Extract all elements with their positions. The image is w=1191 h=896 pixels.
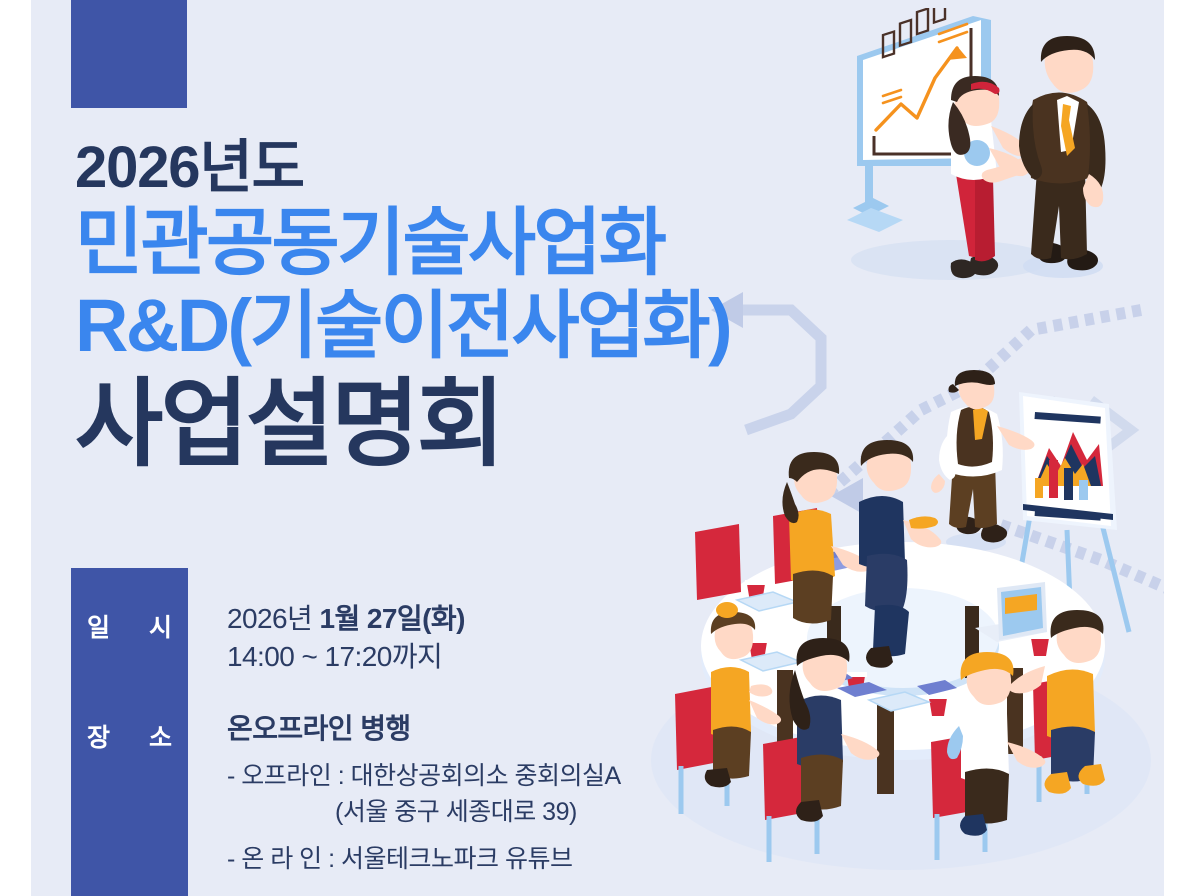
place-offline-address: (서울 중구 세종대로 39) [227,794,697,830]
event-date-line: 2026년 1월 27일(화) [227,600,697,638]
title-program-line-2: R&D(기술이전사업화) [75,285,715,368]
info-label-date-first: 일 [87,608,110,644]
title-event-type: 사업설명회 [75,370,715,479]
info-label-place-second: 소 [149,718,172,754]
accent-bar-top [71,0,187,108]
illustration-presentation [831,8,1164,308]
info-value-place: 온오프라인 병행 - 오프라인 : 대한상공회의소 중회의실A (서울 중구 세… [227,710,697,877]
title-year: 2026년도 [75,138,715,198]
title-program-line-1: 민관공동기술사업화 [75,202,715,285]
spacer [227,748,697,758]
event-time-line: 14:00 ~ 17:20까지 [227,638,697,676]
page-title: 2026년도 민관공동기술사업화 R&D(기술이전사업화) 사업설명회 [75,138,715,480]
info-label-place: 장 소 [71,718,188,754]
event-date-bold: 1월 27일(화) [319,603,464,634]
info-label-date-second: 시 [149,608,172,644]
info-label-place-first: 장 [87,718,110,754]
info-label-date: 일 시 [71,608,188,644]
illustration-roundtable-meeting [631,370,1164,896]
event-date-prefix: 2026년 [227,603,319,634]
spacer [227,831,697,841]
info-value-date: 2026년 1월 27일(화) 14:00 ~ 17:20까지 [227,600,697,676]
person-presenter [931,370,1035,551]
place-offline: - 오프라인 : 대한상공회의소 중회의실A [227,758,697,794]
poster-canvas: 2026년도 민관공동기술사업화 R&D(기술이전사업화) 사업설명회 일 시 … [31,0,1164,896]
place-online: - 온 라 인 : 서울테크노파크 유튜브 [227,841,697,877]
place-heading: 온오프라인 병행 [227,710,697,748]
